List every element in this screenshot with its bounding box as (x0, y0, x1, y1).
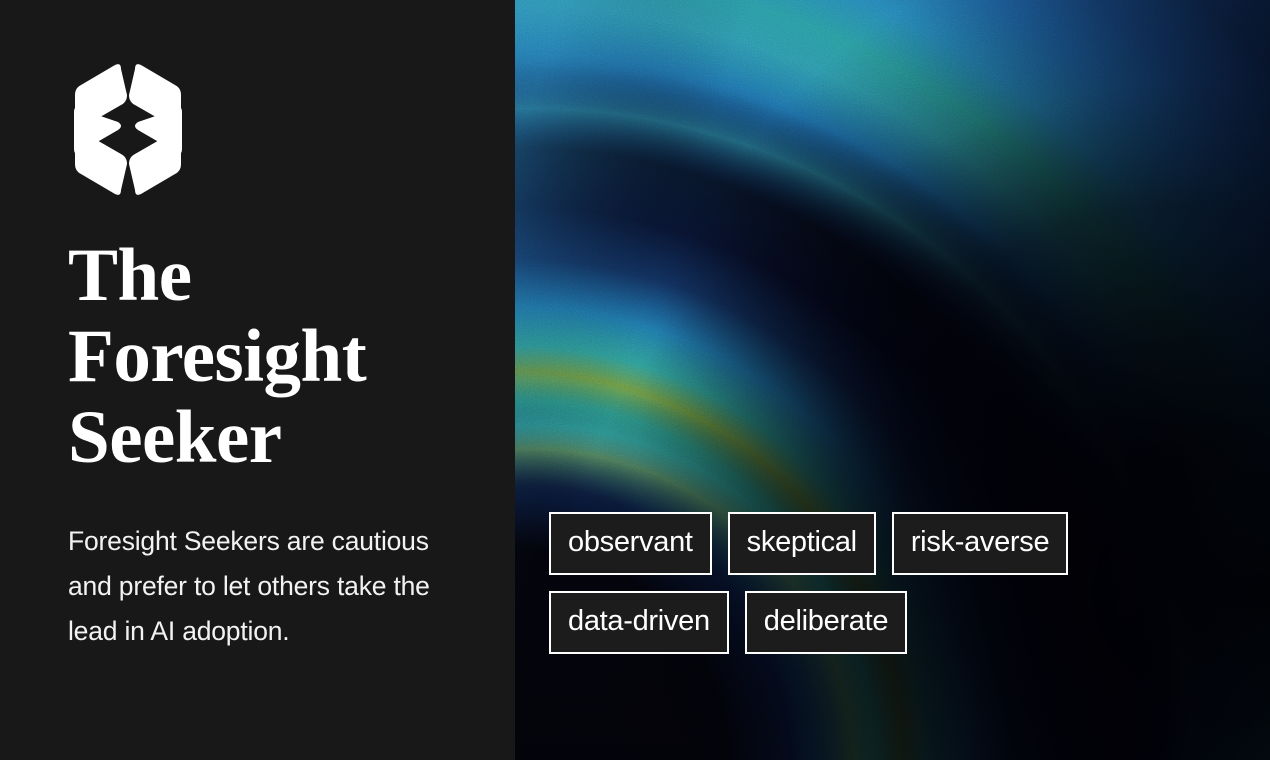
page-title: TheForesightSeeker (68, 235, 468, 478)
left-content-panel: TheForesightSeeker Foresight Seekers are… (0, 0, 515, 760)
persona-card: TheForesightSeeker Foresight Seekers are… (0, 0, 1270, 760)
trait-chip[interactable]: risk-averse (892, 512, 1069, 575)
trait-chip[interactable]: data-driven (549, 591, 729, 654)
trait-chip[interactable]: observant (549, 512, 712, 575)
trait-chip[interactable]: deliberate (745, 591, 907, 654)
aurora-visual-panel: observant skeptical risk-averse data-dri… (515, 0, 1270, 760)
hexagonal-petal-flower-logo (68, 62, 188, 197)
trait-chip[interactable]: skeptical (728, 512, 876, 575)
trait-chip-list: observant skeptical risk-averse data-dri… (549, 512, 1229, 654)
persona-description: Foresight Seekers are cautious and prefe… (68, 519, 450, 653)
